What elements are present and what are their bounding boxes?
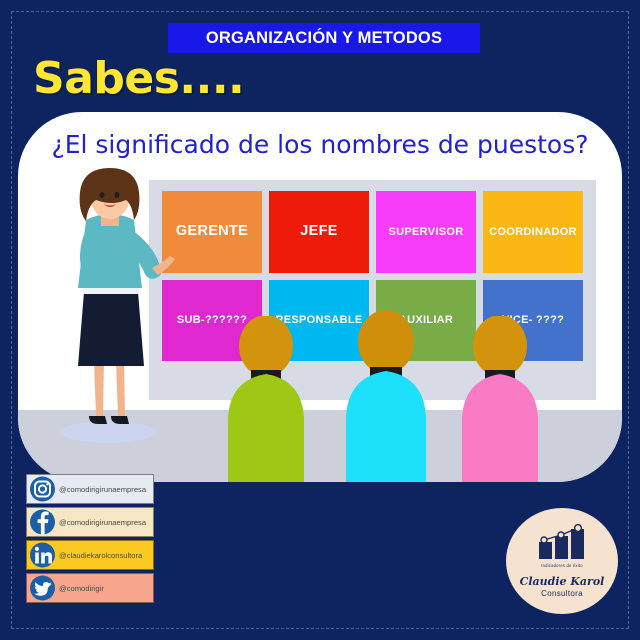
header-banner: ORGANIZACIÓN Y METODOS [168, 23, 480, 53]
social-links-panel: @comodirigirunaempresa@comodirigirunaemp… [26, 474, 154, 606]
job-title-label: GERENTE [176, 224, 248, 240]
speaker-illustration [46, 164, 176, 444]
job-title-card: SUPERVISOR [376, 191, 476, 273]
job-title-label: JEFE [300, 224, 337, 240]
facebook-icon [30, 510, 55, 535]
social-handle: @comodirigirunaempresa [59, 485, 146, 494]
job-title-card: COORDINADOR [483, 191, 583, 273]
social-link-twitter[interactable]: @comodirigir [26, 573, 154, 603]
logo-subtitle: Consultora [541, 589, 583, 598]
audience-listener-left [218, 316, 314, 482]
social-link-linkedin[interactable]: @claudiekarolconsultora [26, 540, 154, 570]
job-title-card: JEFE [269, 191, 369, 273]
social-handle: @claudiekarolconsultora [59, 551, 142, 560]
poster-canvas: ORGANIZACIÓN Y METODOS Sabes.... ¿El sig… [0, 0, 640, 640]
twitter-icon [30, 576, 55, 601]
social-link-instagram[interactable]: @comodirigirunaempresa [26, 474, 154, 504]
social-handle: @comodirigirunaempresa [59, 518, 146, 527]
job-title-card: GERENTE [162, 191, 262, 273]
header-banner-text: ORGANIZACIÓN Y METODOS [206, 29, 442, 48]
headline-text: Sabes.... [33, 53, 244, 104]
bar-chart-icon [533, 524, 591, 562]
social-link-facebook[interactable]: @comodirigirunaempresa [26, 507, 154, 537]
instagram-icon [30, 477, 55, 502]
logo-name: Claudie Karol [520, 575, 605, 588]
logo-tagline: Indicadores de éxito [541, 563, 582, 568]
white-content-card: ¿El significado de los nombres de puesto… [18, 112, 622, 482]
social-handle: @comodirigir [59, 584, 104, 593]
question-text: ¿El significado de los nombres de puesto… [18, 130, 622, 159]
linkedin-icon [30, 543, 55, 568]
job-title-label: COORDINADOR [489, 226, 577, 238]
audience-listener-right [452, 316, 548, 482]
audience-listener-center [336, 310, 436, 482]
brand-logo: Indicadores de éxito Claudie Karol Consu… [506, 508, 618, 614]
job-title-label: SUPERVISOR [389, 226, 464, 238]
